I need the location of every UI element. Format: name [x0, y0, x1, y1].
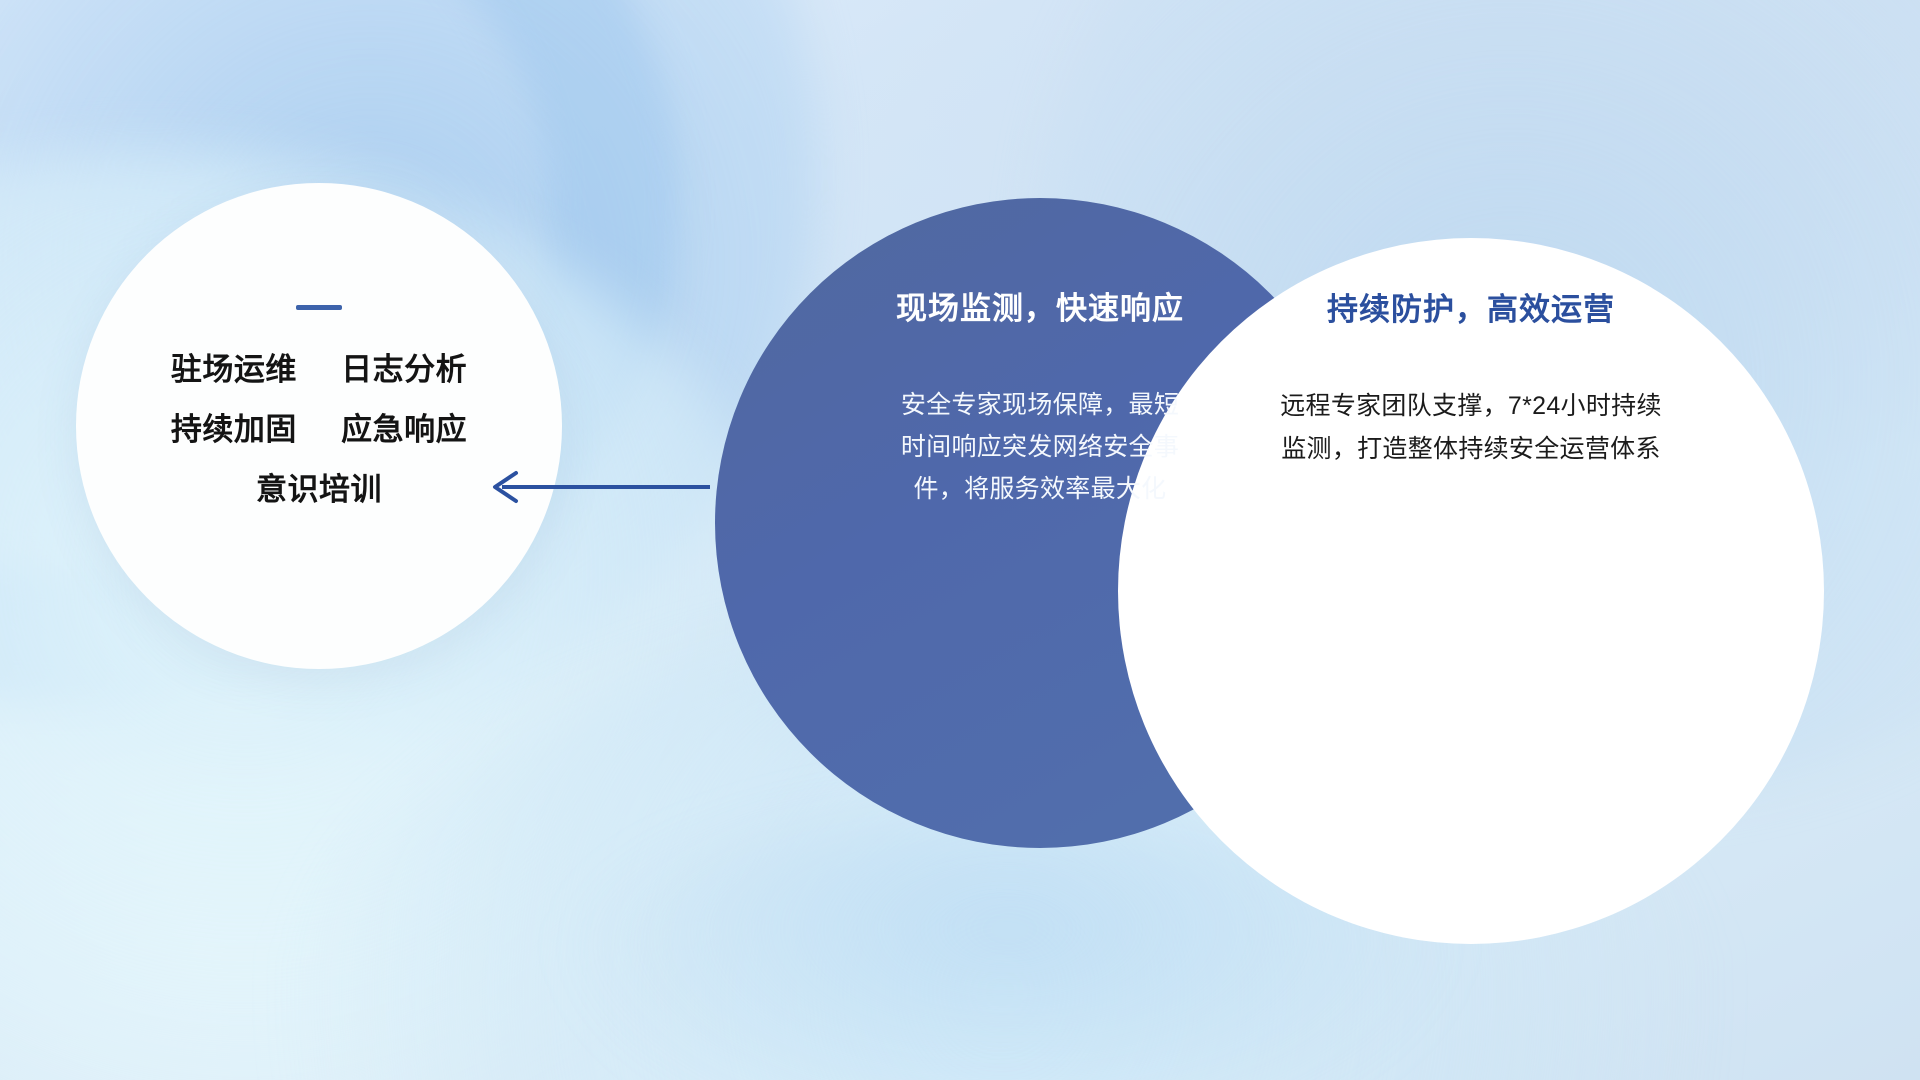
- right-circle-heading: 持续防护，高效运营: [1327, 293, 1615, 327]
- left-keyword-rizhi-fenxi: 日志分析: [341, 352, 467, 387]
- left-circle-line-3: 意识培训: [256, 474, 382, 505]
- left-circle-line-1: 驻场运维 日志分析: [171, 354, 467, 385]
- divider-dash: [296, 305, 342, 310]
- right-circle-content: 持续防护，高效运营 远程专家团队支撑，7*24小时持续监测，打造整体持续安全运营…: [1118, 238, 1824, 944]
- left-circle-line-2: 持续加固 应急响应: [171, 414, 467, 445]
- left-keyword-yingji-xiangying: 应急响应: [341, 412, 467, 447]
- left-keyword-yishi-peixun: 意识培训: [256, 472, 382, 507]
- left-keyword-zhuchang-yunwei: 驻场运维: [171, 352, 297, 387]
- right-circle-body-text: 远程专家团队支撑，7*24小时持续监测，打造整体持续安全运营体系: [1272, 385, 1670, 470]
- left-keyword-chixu-jiagu: 持续加固: [171, 412, 297, 447]
- left-circle-content: 驻场运维 日志分析 持续加固 应急响应 意识培训: [76, 183, 562, 669]
